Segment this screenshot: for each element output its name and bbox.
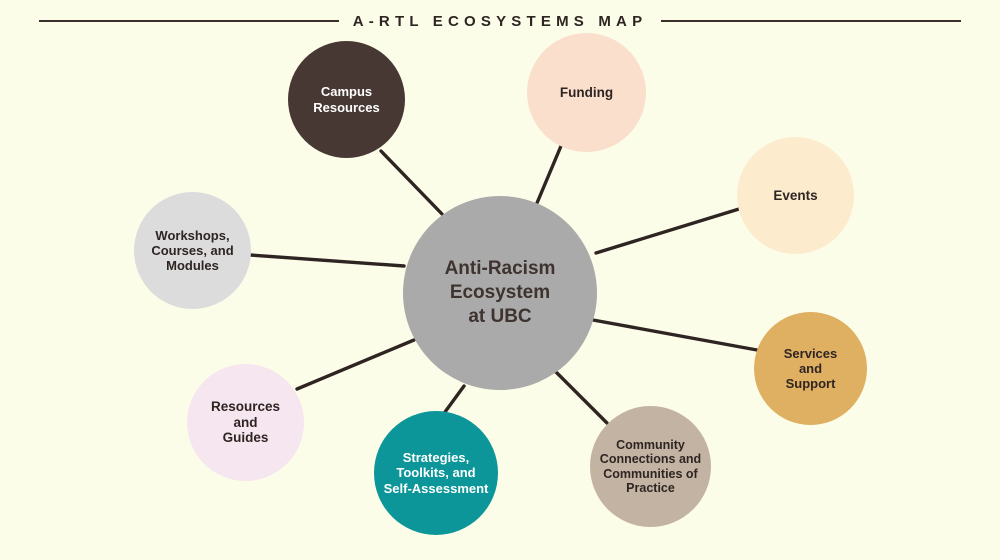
link-hub-to-services-and-support [593, 320, 757, 350]
link-hub-to-strategies-toolkits [445, 386, 464, 412]
node-services-and-support[interactable]: Services and Support [754, 312, 867, 425]
node-label: Funding [560, 85, 613, 101]
node-label: Strategies, Toolkits, and Self-Assessmen… [384, 450, 489, 495]
node-campus-resources[interactable]: Campus Resources [288, 41, 405, 158]
node-label: Workshops, Courses, and Modules [151, 228, 233, 273]
ecosystem-map-canvas: A-RTL ECOSYSTEMS MAP Anti-Racism Ecosyst… [0, 0, 1000, 560]
node-anti-racism-ecosystem-at-ubc[interactable]: Anti-Racism Ecosystem at UBC [403, 196, 597, 390]
node-label: Resources and Guides [211, 399, 280, 446]
link-hub-to-workshops-courses [250, 255, 404, 266]
node-label: Community Connections and Communities of… [600, 438, 701, 496]
link-hub-to-community-connections [556, 372, 607, 423]
node-resources-and-guides[interactable]: Resources and Guides [187, 364, 304, 481]
node-label: Services and Support [784, 346, 838, 391]
node-label: Events [773, 188, 817, 204]
node-workshops-courses-and-modules[interactable]: Workshops, Courses, and Modules [134, 192, 251, 309]
node-events[interactable]: Events [737, 137, 854, 254]
link-hub-to-funding [537, 146, 561, 203]
node-strategies-toolkits-and-self-assessment[interactable]: Strategies, Toolkits, and Self-Assessmen… [374, 411, 498, 535]
link-hub-to-resources-and-guides [297, 340, 414, 389]
node-label: Campus Resources [313, 84, 379, 114]
node-funding[interactable]: Funding [527, 33, 646, 152]
link-hub-to-events [596, 209, 739, 253]
node-community-connections-and-communities-of-practice[interactable]: Community Connections and Communities of… [590, 406, 711, 527]
link-hub-to-campus-resources [381, 151, 442, 214]
node-label: Anti-Racism Ecosystem at UBC [445, 257, 556, 330]
